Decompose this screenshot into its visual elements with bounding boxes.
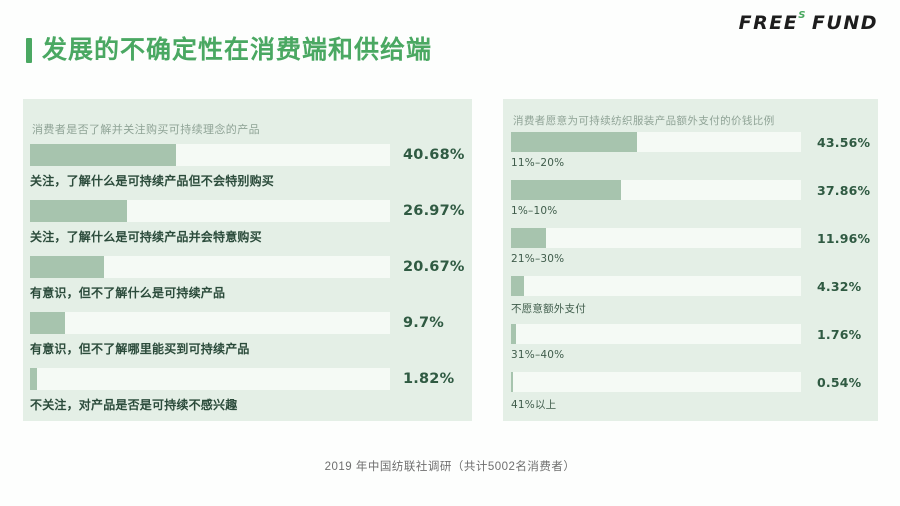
bar-value-label: 40.68% — [390, 147, 464, 163]
page-title: 发展的不确定性在消费端和供给端 — [42, 38, 432, 63]
bar-row: 1.82%不关注，对产品是否是可持续不感兴趣 — [30, 368, 464, 424]
bar-category-label: 11%–20% — [511, 157, 869, 169]
bar-line: 43.56% — [511, 132, 869, 152]
bar-track — [30, 200, 390, 222]
source-note: 2019 年中国纺联社调研（共计5002名消费者） — [0, 458, 900, 474]
brand-name-first: FREE — [739, 14, 799, 33]
bar-value-label: 43.56% — [801, 135, 869, 150]
bar-line: 20.67% — [30, 256, 464, 278]
bar-category-label: 1%–10% — [511, 205, 869, 217]
bar-track — [511, 132, 801, 152]
bar-category-label: 21%–30% — [511, 253, 869, 265]
bar-track — [30, 368, 390, 390]
bar-value-label: 11.96% — [801, 231, 869, 246]
bar-row: 11.96%21%–30% — [511, 228, 869, 276]
charts-area: 消费者是否了解并关注购买可持续理念的产品 40.68%关注，了解什么是可持续产品… — [23, 99, 878, 421]
bar-value-label: 9.7% — [390, 315, 464, 331]
bar-row: 1.76%31%–40% — [511, 324, 869, 372]
bar-line: 1.76% — [511, 324, 869, 344]
bar-track — [511, 180, 801, 200]
bar-line: 11.96% — [511, 228, 869, 248]
bar-row: 43.56%11%–20% — [511, 132, 869, 180]
bar-row: 0.54%41%以上 — [511, 372, 869, 420]
bar-category-label: 有意识，但不了解什么是可持续产品 — [30, 284, 464, 301]
bar-value-label: 0.54% — [801, 375, 869, 390]
title-accent-bar-icon — [26, 38, 32, 63]
bar-track — [511, 228, 801, 248]
bar-fill — [511, 132, 637, 152]
bar-fill — [30, 256, 104, 278]
bar-track — [511, 324, 801, 344]
brand-name-second: FUND — [812, 14, 878, 33]
bar-fill — [30, 312, 65, 334]
bar-row: 26.97%关注，了解什么是可持续产品并会特意购买 — [30, 200, 464, 256]
bar-line: 1.82% — [30, 368, 464, 390]
bar-row: 9.7%有意识，但不了解哪里能买到可持续产品 — [30, 312, 464, 368]
bar-row: 20.67%有意识，但不了解什么是可持续产品 — [30, 256, 464, 312]
bar-track — [30, 256, 390, 278]
bar-category-label: 41%以上 — [511, 397, 869, 412]
bar-rows-awareness: 40.68%关注，了解什么是可持续产品但不会特别购买26.97%关注，了解什么是… — [30, 144, 464, 415]
bar-track — [30, 312, 390, 334]
bar-value-label: 20.67% — [390, 259, 464, 275]
bar-category-label: 关注，了解什么是可持续产品并会特意购买 — [30, 228, 464, 245]
bar-category-label: 31%–40% — [511, 349, 869, 361]
chart-title-willingness: 消费者愿意为可持续纺织服装产品额外支付的价钱比例 — [513, 113, 775, 128]
bar-fill — [511, 324, 516, 344]
bar-category-label: 不愿意额外支付 — [511, 301, 869, 316]
bar-value-label: 1.82% — [390, 371, 464, 387]
bar-value-label: 37.86% — [801, 183, 869, 198]
slide-canvas: FREESFUND 发展的不确定性在消费端和供给端 消费者是否了解并关注购买可持… — [0, 0, 900, 506]
bar-line: 4.32% — [511, 276, 869, 296]
bar-row: 40.68%关注，了解什么是可持续产品但不会特别购买 — [30, 144, 464, 200]
bar-fill — [30, 144, 176, 166]
bar-line: 0.54% — [511, 372, 869, 392]
bar-row: 4.32%不愿意额外支付 — [511, 276, 869, 324]
bar-line: 26.97% — [30, 200, 464, 222]
chart-panel-awareness: 消费者是否了解并关注购买可持续理念的产品 40.68%关注，了解什么是可持续产品… — [23, 99, 472, 421]
brand-logo: FREESFUND — [739, 14, 878, 33]
bar-fill — [30, 368, 37, 390]
page-title-group: 发展的不确定性在消费端和供给端 — [26, 38, 432, 63]
bar-fill — [511, 180, 621, 200]
bar-fill — [30, 200, 127, 222]
bar-value-label: 1.76% — [801, 327, 869, 342]
chart-title-awareness: 消费者是否了解并关注购买可持续理念的产品 — [32, 121, 260, 137]
bar-track — [511, 276, 801, 296]
bar-row: 37.86%1%–10% — [511, 180, 869, 228]
bar-value-label: 26.97% — [390, 203, 464, 219]
bar-category-label: 不关注，对产品是否是可持续不感兴趣 — [30, 396, 464, 413]
bar-fill — [511, 228, 546, 248]
bar-line: 37.86% — [511, 180, 869, 200]
bar-value-label: 4.32% — [801, 279, 869, 294]
bar-fill — [511, 276, 524, 296]
bar-fill — [511, 372, 513, 392]
bar-track — [30, 144, 390, 166]
chart-panel-willingness: 消费者愿意为可持续纺织服装产品额外支付的价钱比例 43.56%11%–20%37… — [503, 99, 878, 421]
bar-category-label: 关注，了解什么是可持续产品但不会特别购买 — [30, 172, 464, 189]
bar-track — [511, 372, 801, 392]
bar-line: 40.68% — [30, 144, 464, 166]
brand-superscript: S — [798, 11, 807, 21]
bar-category-label: 有意识，但不了解哪里能买到可持续产品 — [30, 340, 464, 357]
bar-rows-willingness: 43.56%11%–20%37.86%1%–10%11.96%21%–30%4.… — [511, 132, 869, 415]
bar-line: 9.7% — [30, 312, 464, 334]
